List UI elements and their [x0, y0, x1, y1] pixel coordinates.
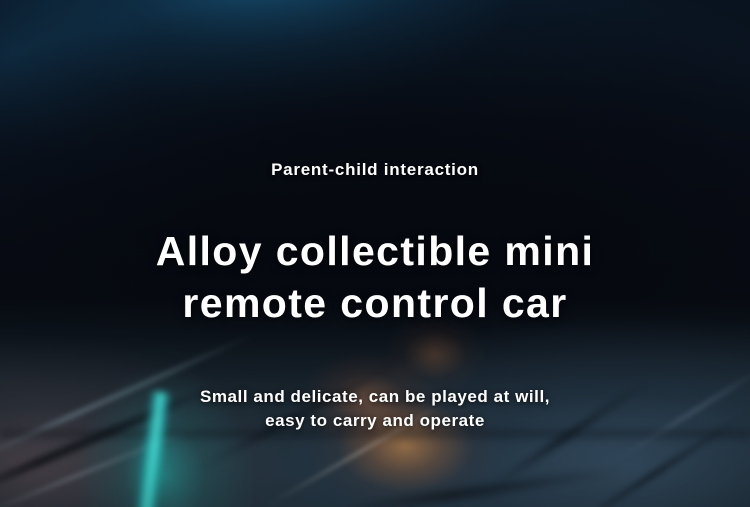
hero-subcopy-line-2: easy to carry and operate: [200, 409, 550, 433]
hero-eyebrow: Parent-child interaction: [271, 160, 479, 180]
hero-subcopy: Small and delicate, can be played at wil…: [200, 385, 550, 433]
hero-copy-block: Parent-child interaction Alloy collectib…: [0, 0, 750, 507]
hero-headline-line-1: Alloy collectible mini: [156, 226, 595, 278]
hero-subcopy-line-1: Small and delicate, can be played at wil…: [200, 385, 550, 409]
hero-headline-line-2: remote control car: [156, 278, 595, 330]
product-hero-banner: Parent-child interaction Alloy collectib…: [0, 0, 750, 507]
hero-headline: Alloy collectible mini remote control ca…: [156, 226, 595, 329]
